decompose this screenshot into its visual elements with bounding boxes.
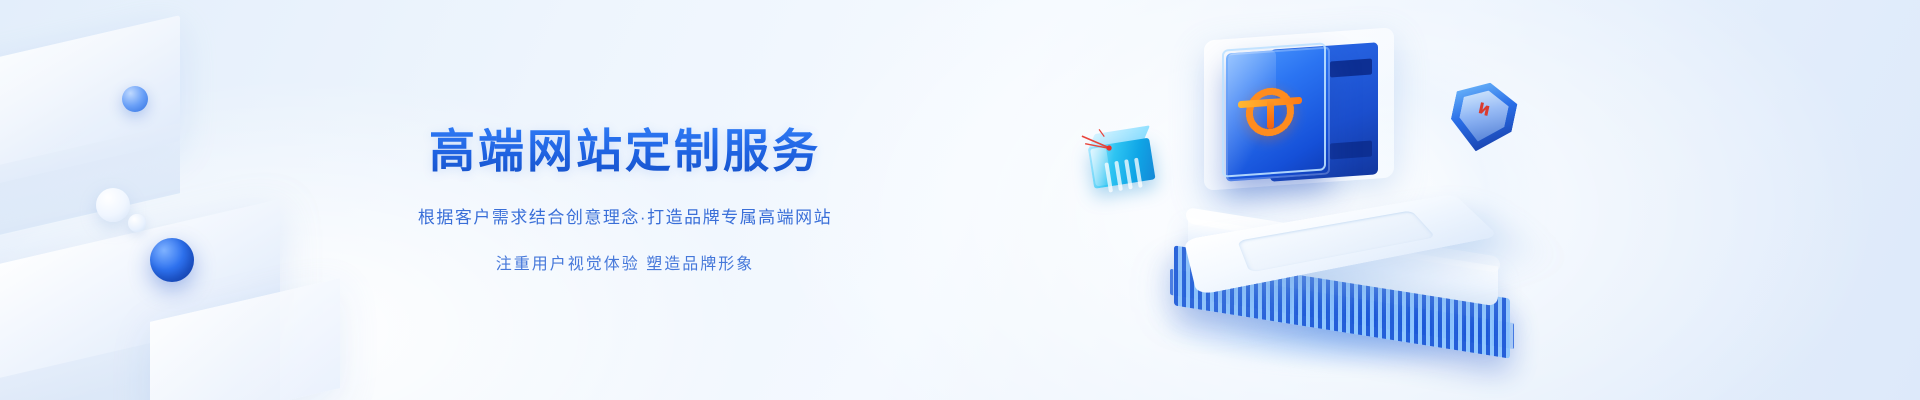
banner-headline: 高端网站定制服务 <box>429 126 821 177</box>
hero-illustration <box>1100 20 1600 400</box>
cube-stripe <box>1134 158 1143 188</box>
hero-banner: 高端网站定制服务 根据客户需求结合创意理念·打造品牌专属高端网站 注重用户视觉体… <box>0 0 1920 400</box>
blue-card-3d <box>1218 42 1378 182</box>
server-platform-3d <box>1150 180 1550 360</box>
cube-stripe <box>1114 161 1123 191</box>
banner-text-block: 高端网站定制服务 根据客户需求结合创意理念·打造品牌专属高端网站 注重用户视觉体… <box>0 0 1250 400</box>
emblem-stem <box>1267 99 1274 129</box>
cube-stripe <box>1124 159 1133 189</box>
banner-subtitle-secondary: 注重用户视觉体验 塑造品牌形象 <box>496 250 754 274</box>
card-notch-bottom <box>1330 141 1372 160</box>
red-cursor-arrow-icon <box>1079 124 1123 160</box>
banner-subtitle-primary: 根据客户需求结合创意理念·打造品牌专属高端网站 <box>418 203 832 228</box>
card-notch-top <box>1330 59 1372 78</box>
cyan-cube-icon <box>1086 125 1160 193</box>
